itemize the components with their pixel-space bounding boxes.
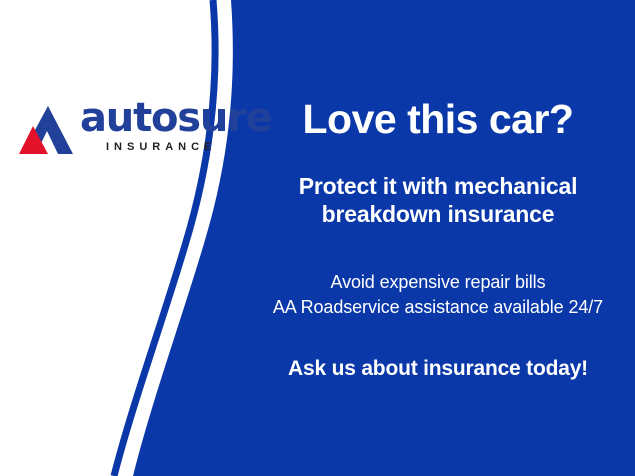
- benefit-list: Avoid expensive repair bills AA Roadserv…: [252, 228, 624, 320]
- marketing-copy: Love this car? Protect it with mechanica…: [252, 96, 624, 382]
- subheadline: Protect it with mechanical breakdown ins…: [252, 142, 624, 228]
- list-item: Avoid expensive repair bills: [252, 270, 624, 295]
- call-to-action: Ask us about insurance today!: [252, 320, 624, 382]
- headline: Love this car?: [252, 96, 624, 142]
- subheadline-line-2: breakdown insurance: [322, 201, 555, 227]
- autosure-triangle-mark-icon: [18, 104, 74, 156]
- logo-name-text: autosure: [80, 98, 272, 138]
- autosure-wordmark: autosure INSURANCE: [80, 98, 272, 154]
- subheadline-line-1: Protect it with mechanical: [299, 173, 578, 199]
- logo-subtitle-text: INSURANCE: [106, 141, 216, 154]
- list-item: AA Roadservice assistance available 24/7: [252, 295, 624, 320]
- autosure-logo: autosure INSURANCE: [18, 98, 233, 168]
- autosure-insurance-banner: autosure INSURANCE Love this car? Protec…: [0, 0, 635, 476]
